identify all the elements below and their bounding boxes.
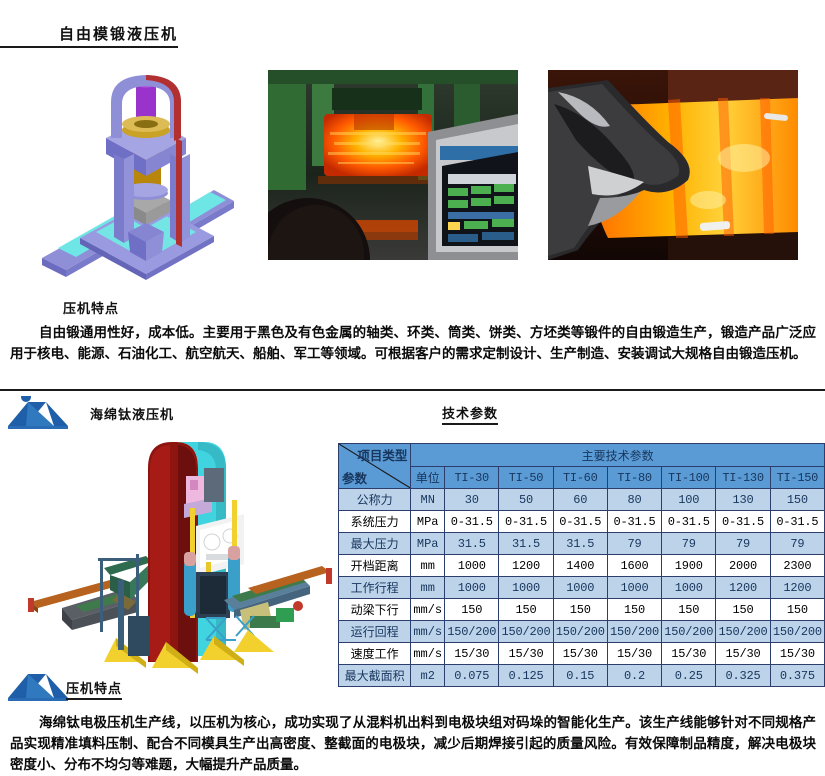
row-value: 0.375	[770, 665, 824, 687]
row-value: 15/30	[553, 643, 607, 665]
row-value: 0.2	[607, 665, 661, 687]
row-label: 公称力	[339, 489, 411, 511]
table-row: 系统压力MPa0-31.50-31.50-31.50-31.50-31.50-3…	[339, 511, 825, 533]
tech-params-table: 项目类型 参数 主要技术参数 单位 TI-30 TI-50 TI-60 TI-8…	[338, 443, 825, 687]
row-value: 150	[445, 599, 499, 621]
row-value: 150/200	[770, 621, 824, 643]
row-value: 0.325	[716, 665, 770, 687]
row-value: 2300	[770, 555, 824, 577]
row-value: 100	[662, 489, 716, 511]
row-value: 150/200	[499, 621, 553, 643]
row-value: 130	[716, 489, 770, 511]
model-header-ti-60: TI-60	[553, 467, 607, 489]
table-row: 运行回程mm/s150/200150/200150/200150/200150/…	[339, 621, 825, 643]
row-value: 79	[662, 533, 716, 555]
row-value: 31.5	[499, 533, 553, 555]
row-value: 50	[499, 489, 553, 511]
row-value: 150	[607, 599, 661, 621]
row-label: 动梁下行	[339, 599, 411, 621]
section-divider	[0, 389, 825, 391]
table-row: 开档距离mm1000120014001600190020002300	[339, 555, 825, 577]
row-value: 0.15	[553, 665, 607, 687]
unit-header-cell: 单位	[411, 467, 445, 489]
corner-bottom-label: 参数	[342, 468, 367, 487]
row-value: 1200	[716, 577, 770, 599]
model-header-ti-150: TI-150	[770, 467, 824, 489]
row-value: 0-31.5	[716, 511, 770, 533]
blue-trapezoid-bullet-icon	[6, 396, 76, 430]
row-unit: mm/s	[411, 621, 445, 643]
row-value: 150/200	[445, 621, 499, 643]
row-label: 最大压力	[339, 533, 411, 555]
row-value: 150/200	[607, 621, 661, 643]
row-value: 150	[553, 599, 607, 621]
row-label: 工作行程	[339, 577, 411, 599]
sponge-ti-body-text: 海绵钛电极压机生产线，以压机为核心，成功实现了从混料机出料到电极块组对码垛的智能…	[10, 712, 816, 775]
row-value: 1000	[445, 555, 499, 577]
model-header-ti-130: TI-130	[716, 467, 770, 489]
row-value: 15/30	[607, 643, 661, 665]
row-value: 150/200	[553, 621, 607, 643]
group-header-cell: 主要技术参数	[411, 444, 825, 467]
tech-table-body: 公称力MN30506080100130150系统压力MPa0-31.50-31.…	[339, 489, 825, 687]
row-value: 15/30	[662, 643, 716, 665]
row-value: 15/30	[445, 643, 499, 665]
row-value: 1000	[499, 577, 553, 599]
row-value: 150/200	[716, 621, 770, 643]
row-unit: MN	[411, 489, 445, 511]
row-label: 运行回程	[339, 621, 411, 643]
row-value: 15/30	[716, 643, 770, 665]
cad-press-2-image	[0, 430, 340, 680]
corner-top-label: 项目类型	[357, 445, 407, 464]
table-row: 公称力MN30506080100130150	[339, 489, 825, 511]
row-unit: m2	[411, 665, 445, 687]
row-value: 0-31.5	[607, 511, 661, 533]
row-value: 1000	[662, 577, 716, 599]
row-value: 1000	[553, 577, 607, 599]
tech-params-table-wrapper: 项目类型 参数 主要技术参数 单位 TI-30 TI-50 TI-60 TI-8…	[338, 443, 825, 687]
row-value: 1200	[499, 555, 553, 577]
row-value: 150/200	[662, 621, 716, 643]
tech-table-header-row-2: 单位 TI-30 TI-50 TI-60 TI-80 TI-100 TI-130…	[339, 467, 825, 489]
free-forging-features-heading: 压机特点	[63, 298, 119, 317]
row-value: 0-31.5	[770, 511, 824, 533]
photo-forging-2-image	[548, 70, 798, 260]
row-unit: mm/s	[411, 643, 445, 665]
row-unit: mm	[411, 577, 445, 599]
row-value: 150	[499, 599, 553, 621]
row-unit: MPa	[411, 511, 445, 533]
row-label: 最大截面积	[339, 665, 411, 687]
table-row: 最大压力MPa31.531.531.579797979	[339, 533, 825, 555]
row-value: 1000	[607, 577, 661, 599]
table-corner-cell: 项目类型 参数	[339, 444, 411, 489]
row-value: 15/30	[770, 643, 824, 665]
row-value: 0.125	[499, 665, 553, 687]
row-value: 0.075	[445, 665, 499, 687]
row-value: 0-31.5	[662, 511, 716, 533]
photo-forging-1-image	[268, 70, 518, 260]
row-value: 0.25	[662, 665, 716, 687]
row-value: 150	[716, 599, 770, 621]
cad-press-1-image	[18, 62, 258, 287]
row-unit: mm	[411, 555, 445, 577]
row-value: 60	[553, 489, 607, 511]
row-unit: mm/s	[411, 599, 445, 621]
tech-table-head: 项目类型 参数 主要技术参数 单位 TI-30 TI-50 TI-60 TI-8…	[339, 444, 825, 489]
model-header-ti-30: TI-30	[445, 467, 499, 489]
sponge-ti-features-heading: 压机特点	[66, 678, 122, 700]
free-forging-body-span: 自由锻通用性好，成本低。主要用于黑色及有色金属的轴类、环类、筒类、饼类、方坯类等…	[10, 325, 816, 361]
row-value: 1600	[607, 555, 661, 577]
tech-table-header-row-1: 项目类型 参数 主要技术参数	[339, 444, 825, 467]
row-unit: MPa	[411, 533, 445, 555]
row-value: 1900	[662, 555, 716, 577]
sponge-ti-body-span: 海绵钛电极压机生产线，以压机为核心，成功实现了从混料机出料到电极块组对码垛的智能…	[10, 715, 816, 772]
model-header-ti-100: TI-100	[662, 467, 716, 489]
row-value: 1000	[445, 577, 499, 599]
row-value: 79	[716, 533, 770, 555]
row-value: 15/30	[499, 643, 553, 665]
row-value: 31.5	[445, 533, 499, 555]
row-value: 31.5	[553, 533, 607, 555]
sponge-ti-heading: 海绵钛液压机	[90, 404, 174, 423]
free-forging-body-text: 自由锻通用性好，成本低。主要用于黑色及有色金属的轴类、环类、筒类、饼类、方坯类等…	[10, 322, 816, 364]
row-value: 2000	[716, 555, 770, 577]
row-value: 30	[445, 489, 499, 511]
row-value: 150	[770, 489, 824, 511]
page-title-underline: 自由模锻液压机	[0, 26, 178, 48]
model-header-ti-50: TI-50	[499, 467, 553, 489]
row-label: 速度工作	[339, 643, 411, 665]
table-row: 动梁下行mm/s150150150150150150150	[339, 599, 825, 621]
table-row: 最大截面积m20.0750.1250.150.20.250.3250.375	[339, 665, 825, 687]
row-value: 150	[662, 599, 716, 621]
table-row: 速度工作mm/s15/3015/3015/3015/3015/3015/3015…	[339, 643, 825, 665]
page-title: 自由模锻液压机	[0, 26, 178, 44]
model-header-ti-80: TI-80	[607, 467, 661, 489]
row-value: 1200	[770, 577, 824, 599]
table-row: 工作行程mm1000100010001000100012001200	[339, 577, 825, 599]
tech-params-heading: 技术参数	[442, 403, 498, 425]
row-value: 1400	[553, 555, 607, 577]
row-value: 0-31.5	[445, 511, 499, 533]
row-value: 79	[770, 533, 824, 555]
row-value: 79	[607, 533, 661, 555]
row-value: 150	[770, 599, 824, 621]
row-value: 0-31.5	[553, 511, 607, 533]
row-value: 0-31.5	[499, 511, 553, 533]
row-label: 开档距离	[339, 555, 411, 577]
row-value: 80	[607, 489, 661, 511]
row-label: 系统压力	[339, 511, 411, 533]
